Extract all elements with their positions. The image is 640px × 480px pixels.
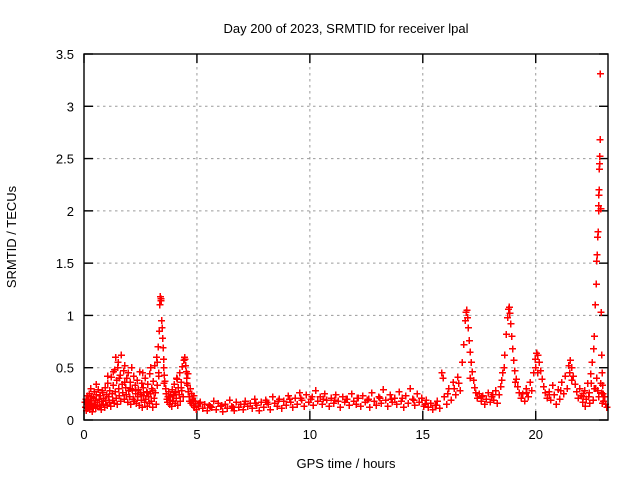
- x-tick-label: 15: [416, 427, 430, 442]
- x-axis-label: GPS time / hours: [297, 456, 396, 471]
- x-tick-label: 20: [528, 427, 542, 442]
- y-tick-label: 1.5: [56, 256, 74, 271]
- y-tick-label: 2.5: [56, 152, 74, 167]
- y-tick-label: 3: [67, 99, 74, 114]
- x-tick-label: 0: [80, 427, 87, 442]
- y-tick-label: 3.5: [56, 47, 74, 62]
- x-tick-label: 5: [193, 427, 200, 442]
- y-tick-label: 1: [67, 308, 74, 323]
- page-title: Day 200 of 2023, SRMTID for receiver lpa…: [224, 21, 469, 36]
- chart-screenshot: Day 200 of 2023, SRMTID for receiver lpa…: [0, 0, 640, 480]
- y-axis-label: SRMTID / TECUs: [4, 185, 19, 288]
- y-tick-label: 2: [67, 204, 74, 219]
- y-tick-label: 0.5: [56, 361, 74, 376]
- scatter-plot: Day 200 of 2023, SRMTID for receiver lpa…: [0, 0, 640, 480]
- x-tick-label: 10: [303, 427, 317, 442]
- y-tick-label: 0: [67, 413, 74, 428]
